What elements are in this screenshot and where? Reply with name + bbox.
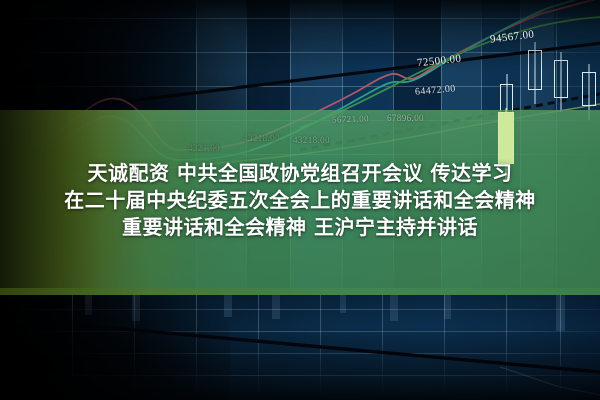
headline-line-3: 重要讲话和全会精神 王沪宁主持并讲话 bbox=[0, 217, 600, 237]
headline-line-2: 在二十届中央纪委五次全会上的重要讲话和全会精神 bbox=[0, 190, 600, 217]
candle-body bbox=[498, 112, 514, 164]
bottom-left-vignette bbox=[0, 295, 230, 400]
price-label: 43218.00 bbox=[293, 135, 330, 145]
headline-text: 天诚配资 中共全国政协党组召开会议 传达学习 在二十届中央纪委五次全会上的重要讲… bbox=[0, 163, 600, 237]
chart-artwork-lower bbox=[0, 295, 600, 400]
banner-image: 94567.00 72500.00 64472.00 67896.00 5672… bbox=[0, 0, 600, 400]
price-label: 4321.00 bbox=[188, 143, 220, 153]
headline-line-1: 天诚配资 中共全国政协党组召开会议 传达学习 bbox=[0, 163, 600, 190]
price-label: 67896.00 bbox=[387, 113, 424, 123]
price-label: 56721.00 bbox=[332, 113, 369, 124]
price-label: 43218.00 bbox=[243, 133, 280, 143]
